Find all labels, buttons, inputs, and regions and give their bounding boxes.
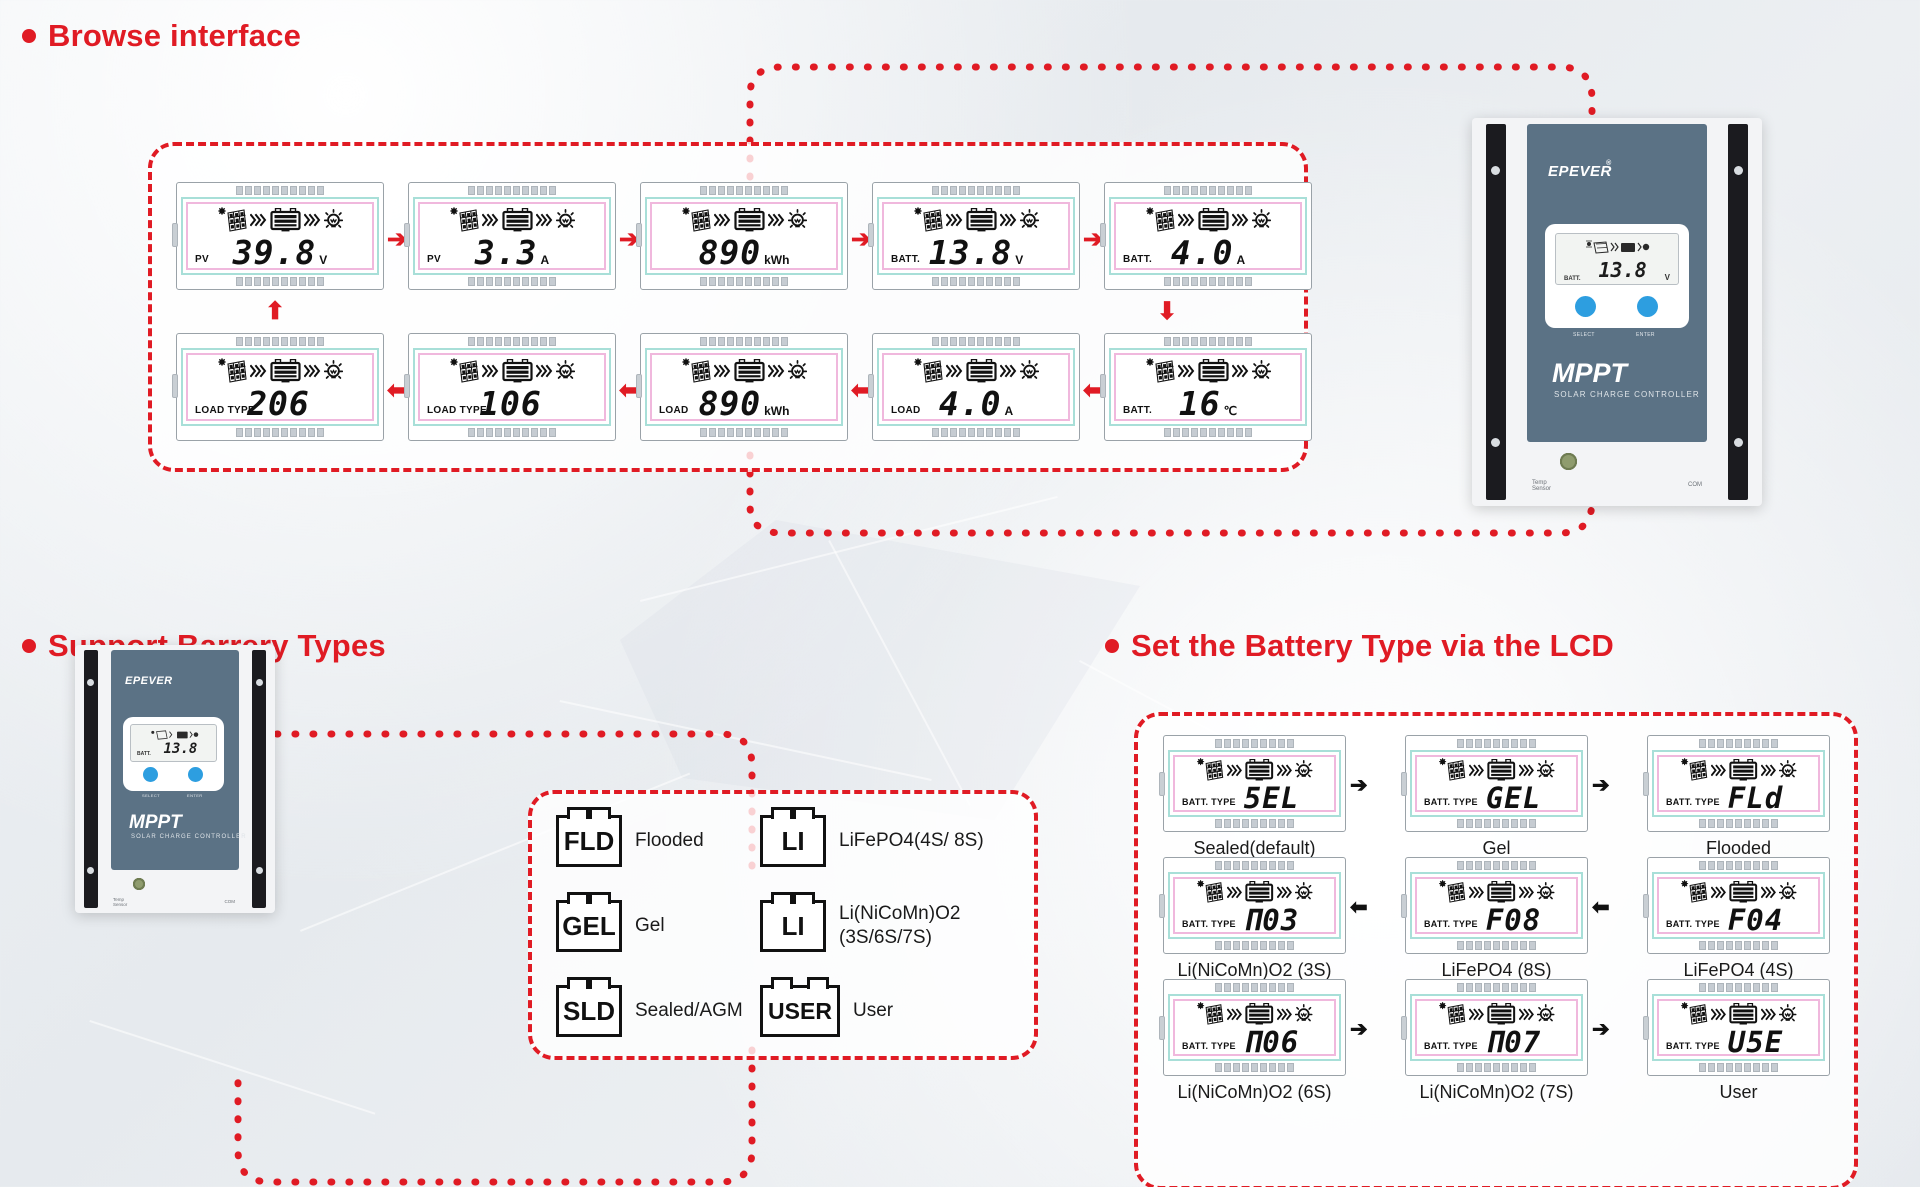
batt-current-screen[interactable]: BATT. 4.0 A <box>1104 182 1312 290</box>
lcd-inner-frame: BATT. TYPE Π03 <box>1168 872 1341 939</box>
flow-chevrons-icon <box>1469 1007 1485 1022</box>
battery-code: LI <box>781 911 804 942</box>
device-temp-sensor-label: Temp Sensor <box>1532 480 1551 492</box>
lcd-icon-row <box>1175 1001 1334 1028</box>
lcd-value: 4.0 <box>1171 236 1234 269</box>
battery-type-lifepo4: LI LiFePO4(4S/ 8S) <box>760 815 984 867</box>
load-current-screen[interactable]: LOAD 4.0 A <box>872 333 1080 441</box>
load-bulb-icon <box>324 209 343 231</box>
load-energy-screen[interactable]: LOAD 890 kWh <box>640 333 848 441</box>
bg-shade-1 <box>620 520 1140 820</box>
flow-chevrons-icon <box>1277 763 1293 778</box>
device-terminal <box>1560 453 1577 470</box>
lcd-inner-frame: LOAD TYPE 206 <box>181 348 379 426</box>
battery-icon <box>1487 759 1516 781</box>
batt-type-user-screen[interactable]: BATT. TYPE U5E <box>1647 979 1830 1076</box>
lcd-value-row: LOAD 890 kWh <box>652 387 836 419</box>
lcd-value-label: BATT. <box>1123 254 1152 265</box>
lcd-inner-frame-2: LOAD 4.0 A <box>882 353 1070 421</box>
lcd-inner-frame-2: BATT. TYPE F04 <box>1657 877 1820 934</box>
device-mount-hole <box>1734 166 1743 175</box>
lcd-batt-type-label: BATT. TYPE <box>1182 919 1236 929</box>
lcd-bottom-segments <box>1652 819 1825 828</box>
lcd-bottom-segments <box>181 277 379 286</box>
lcd-side-notch <box>404 374 410 398</box>
pv-energy-screen[interactable]: 890 kWh <box>640 182 848 290</box>
lcd-inner-frame-2: BATT. TYPE F08 <box>1415 877 1578 934</box>
lcd-batt-type-value: GEL <box>1486 784 1541 813</box>
flow-chevrons-icon <box>1711 763 1727 778</box>
battery-case-icon: FLD <box>556 815 622 867</box>
batt-type-sealed-screen[interactable]: BATT. TYPE 5EL <box>1163 735 1346 832</box>
battery-code: GEL <box>562 911 615 942</box>
lcd-side-notch <box>1401 1016 1407 1040</box>
device-enter-label: ENTER <box>1636 332 1655 338</box>
batt-type-gel-screen[interactable]: BATT. TYPE GEL <box>1405 735 1588 832</box>
device-subtitle: SOLAR CHARGE CONTROLLER <box>1554 390 1700 399</box>
lcd-top-segments <box>413 186 611 195</box>
lcd-value: 890 <box>699 387 762 420</box>
battery-case-icon: LI <box>760 900 826 952</box>
flow-chevrons-icon <box>946 363 963 379</box>
bg-streak-6 <box>89 1020 375 1115</box>
flow-chevrons-icon <box>536 212 553 228</box>
lcd-inner-frame: BATT. TYPE F08 <box>1410 872 1583 939</box>
lcd-value-row: BATT. TYPE F08 <box>1417 906 1576 933</box>
lcd-top-segments <box>1109 337 1307 346</box>
lcd-inner-frame-2: BATT. TYPE Π07 <box>1415 999 1578 1056</box>
device-enter-button[interactable] <box>188 767 203 782</box>
load-bulb-icon <box>324 360 343 382</box>
flow-chevrons-icon <box>1761 1007 1777 1022</box>
lcd-value-unit: V <box>1015 253 1023 267</box>
lcd-bottom-segments <box>413 277 611 286</box>
lcd-value-label: LOAD TYPE <box>427 405 487 416</box>
lcd-value: 16 <box>1179 387 1221 420</box>
battery-icon <box>502 359 533 383</box>
battery-icon <box>270 208 301 232</box>
lcd-icon-row <box>1659 757 1818 784</box>
flow-chevrons-icon <box>1000 212 1017 228</box>
device-brand-logo: EPEVER <box>125 675 173 687</box>
lcd-value: 206 <box>247 387 310 420</box>
lcd-side-notch <box>1643 1016 1649 1040</box>
lcd-value-row: LOAD TYPE 206 <box>188 387 372 419</box>
lcd-top-segments <box>645 186 843 195</box>
battery-icon <box>1198 208 1229 232</box>
lcd-top-segments <box>1168 861 1341 870</box>
lcd-value-label: LOAD TYPE <box>195 405 255 416</box>
lcd-icon-row <box>1175 757 1334 784</box>
lcd-value: 3.3 <box>475 236 538 269</box>
lcd-value: 39.8 <box>233 236 316 269</box>
flow-arrow: ➔ <box>1350 1019 1368 1040</box>
flow-arrow: ⬅ <box>1350 897 1368 918</box>
solar-panel-icon <box>449 358 479 384</box>
flow-chevrons-icon <box>536 363 553 379</box>
load-bulb-icon <box>1537 882 1554 902</box>
lcd-inner-frame: BATT. TYPE F04 <box>1652 872 1825 939</box>
lcd-top-segments <box>877 337 1075 346</box>
device-trademark: ® <box>1606 160 1612 167</box>
batt-type-nico7s-screen[interactable]: BATT. TYPE Π07 <box>1405 979 1588 1076</box>
lcd-icon-row <box>1659 879 1818 906</box>
lcd-inner-frame: PV 39.8 V <box>181 197 379 275</box>
lcd-value-unit: A <box>1236 253 1245 267</box>
battery-icon <box>734 359 765 383</box>
battery-icon <box>1487 881 1516 903</box>
battery-type-linicomno2: LI Li(NiCoMn)O2 (3S/6S/7S) <box>760 900 960 952</box>
battery-type-gel: GEL Gel <box>556 900 665 952</box>
lcd-icon-row <box>884 355 1068 387</box>
device-lcd-icons <box>1584 240 1650 255</box>
device-mount-hole <box>1734 438 1743 447</box>
solar-panel-icon <box>1145 207 1175 233</box>
solar-panel-icon <box>1438 758 1466 782</box>
load-bulb-icon <box>1252 360 1271 382</box>
lcd-value: 13.8 <box>929 236 1012 269</box>
lcd-value-unit: kWh <box>764 253 789 267</box>
lcd-inner-frame-2: BATT. TYPE Π06 <box>1173 999 1336 1056</box>
heading-label: Set the Battery Type via the LCD <box>1131 628 1614 664</box>
lcd-batt-type-value: F04 <box>1728 906 1783 935</box>
load-bulb-icon <box>1020 209 1039 231</box>
solar-panel-icon <box>1438 1002 1466 1026</box>
device-temp-sensor-label: Temp Sensor <box>113 897 127 907</box>
lcd-caption: LiFePO4 (8S) <box>1405 960 1588 981</box>
mppt-controller-device-small: EPEVER BATT. 13.8 SELECT ENTER MPPT SOLA… <box>75 645 275 913</box>
solar-panel-icon <box>217 207 247 233</box>
device-model-label: MPPT <box>1552 358 1627 389</box>
bg-streak-1 <box>640 496 1058 602</box>
lcd-side-notch <box>636 374 642 398</box>
lcd-value-row: LOAD TYPE 106 <box>420 387 604 419</box>
lcd-side-notch <box>172 223 178 247</box>
device-lcd-screen: BATT. 13.8 <box>130 724 217 762</box>
bg-streak-3 <box>828 540 971 806</box>
lcd-inner-frame-2: BATT. 13.8 V <box>882 202 1070 270</box>
battery-description: LiFePO4(4S/ 8S) <box>839 829 984 853</box>
solar-panel-icon <box>1680 1002 1708 1026</box>
load-bulb-icon <box>1020 360 1039 382</box>
battery-description: Li(NiCoMn)O2 (3S/6S/7S) <box>839 902 960 950</box>
battery-icon <box>1729 759 1758 781</box>
flow-chevrons-icon <box>1711 1007 1727 1022</box>
flow-arrow: ➔ <box>1592 1019 1610 1040</box>
battery-type-sealed: SLD Sealed/AGM <box>556 985 743 1037</box>
lcd-value-row: BATT. TYPE F04 <box>1659 906 1818 933</box>
lcd-inner-frame-2: LOAD 890 kWh <box>650 353 838 421</box>
solar-panel-icon <box>913 358 943 384</box>
lcd-caption: Li(NiCoMn)O2 (3S) <box>1163 960 1346 981</box>
lcd-value: 4.0 <box>939 387 1002 420</box>
lcd-inner-frame: PV 3.3 A <box>413 197 611 275</box>
battery-description: Sealed/AGM <box>635 999 743 1023</box>
lcd-icon-row <box>1116 355 1300 387</box>
lcd-batt-type-label: BATT. TYPE <box>1424 919 1478 929</box>
flow-chevrons-icon <box>1227 763 1243 778</box>
device-select-button[interactable] <box>143 767 158 782</box>
lcd-side-notch <box>1100 374 1106 398</box>
batt-type-flooded-screen[interactable]: BATT. TYPE FLd <box>1647 735 1830 832</box>
lcd-caption: Flooded <box>1647 838 1830 859</box>
solar-panel-icon <box>1145 358 1175 384</box>
lcd-batt-type-label: BATT. TYPE <box>1666 919 1720 929</box>
lcd-icon-row <box>1417 879 1576 906</box>
lcd-inner-frame: BATT. TYPE Π07 <box>1410 994 1583 1061</box>
flow-chevrons-icon <box>714 212 731 228</box>
battery-code: LI <box>781 826 804 857</box>
lcd-side-notch <box>1100 223 1106 247</box>
device-com-label: COM <box>1688 482 1702 488</box>
lcd-top-segments <box>1410 861 1583 870</box>
load-bulb-icon <box>1295 760 1312 780</box>
lcd-value-row: PV 3.3 A <box>420 236 604 268</box>
lcd-bottom-segments <box>1652 941 1825 950</box>
lcd-inner-frame: LOAD 890 kWh <box>645 348 843 426</box>
pv-voltage-screen[interactable]: PV 39.8 V <box>176 182 384 290</box>
device-select-button[interactable] <box>1575 296 1596 317</box>
device-brand-logo: EPEVER <box>1548 163 1612 180</box>
lcd-value-label: LOAD <box>659 405 689 416</box>
lcd-value-label: LOAD <box>891 405 921 416</box>
flow-chevrons-icon <box>1519 885 1535 900</box>
lcd-value-row: LOAD 4.0 A <box>884 387 1068 419</box>
lcd-caption: User <box>1647 1082 1830 1103</box>
battery-icon <box>270 359 301 383</box>
lcd-icon-row <box>188 204 372 236</box>
lcd-side-notch <box>636 223 642 247</box>
lcd-bottom-segments <box>1109 277 1307 286</box>
lcd-inner-frame: BATT. TYPE 5EL <box>1168 750 1341 817</box>
heading-label: Browse interface <box>48 18 301 54</box>
lcd-batt-type-value: U5E <box>1728 1028 1783 1057</box>
battery-icon <box>1487 1003 1516 1025</box>
lcd-value-label: BATT. <box>1123 405 1152 416</box>
lcd-value-label: PV <box>195 254 209 265</box>
solar-panel-icon <box>1196 758 1224 782</box>
heading-set-battery-type: Set the Battery Type via the LCD <box>1105 628 1614 664</box>
flow-chevrons-icon <box>1711 885 1727 900</box>
battery-code: SLD <box>563 996 615 1027</box>
flow-chevrons-icon <box>768 363 785 379</box>
battery-icon <box>1245 1003 1274 1025</box>
lcd-bottom-segments <box>1168 941 1341 950</box>
lcd-side-notch <box>1643 894 1649 918</box>
lcd-value-row: BATT. 16 ℃ <box>1116 387 1300 419</box>
lcd-inner-frame: BATT. 4.0 A <box>1109 197 1307 275</box>
battery-icon <box>1245 759 1274 781</box>
lcd-inner-frame-2: BATT. 4.0 A <box>1114 202 1302 270</box>
lcd-icon-row <box>188 355 372 387</box>
lcd-inner-frame-2: BATT. TYPE GEL <box>1415 755 1578 812</box>
lcd-value-label: BATT. <box>891 254 920 265</box>
lcd-top-segments <box>413 337 611 346</box>
lcd-icon-row <box>1417 1001 1576 1028</box>
mppt-controller-device: EPEVER ® BATT. 13.8 V SELECT EN <box>1472 118 1762 506</box>
lcd-inner-frame-2: BATT. TYPE U5E <box>1657 999 1820 1056</box>
lcd-side-notch <box>868 374 874 398</box>
lcd-value-unit: A <box>540 253 549 267</box>
lcd-inner-frame: BATT. 16 ℃ <box>1109 348 1307 426</box>
battery-case-icon: USER <box>760 985 840 1037</box>
flow-chevrons-icon <box>768 212 785 228</box>
lcd-top-segments <box>181 186 379 195</box>
device-mount-hole <box>256 867 263 874</box>
lcd-inner-frame: BATT. TYPE FLd <box>1652 750 1825 817</box>
flow-chevrons-icon <box>304 363 321 379</box>
flow-arrow: ⬅ <box>1592 897 1610 918</box>
lcd-inner-frame-2: BATT. TYPE Π03 <box>1173 877 1336 934</box>
load-bulb-icon <box>1537 760 1554 780</box>
lcd-side-notch <box>1401 772 1407 796</box>
battery-icon <box>966 359 997 383</box>
heading-browse-interface: Browse interface <box>22 18 301 54</box>
solar-panel-icon <box>913 207 943 233</box>
lcd-batt-type-label: BATT. TYPE <box>1666 797 1720 807</box>
lcd-icon-row <box>1659 1001 1818 1028</box>
battery-icon <box>1729 881 1758 903</box>
lcd-bottom-segments <box>1410 1063 1583 1072</box>
solar-panel-icon <box>1680 758 1708 782</box>
lcd-bottom-segments <box>1168 1063 1341 1072</box>
batt-voltage-screen[interactable]: BATT. 13.8 V <box>872 182 1080 290</box>
load-bulb-icon <box>788 209 807 231</box>
lcd-value-row: BATT. 4.0 A <box>1116 236 1300 268</box>
device-lcd-value: 13.8 <box>151 741 210 757</box>
load-type-206-screen[interactable]: LOAD TYPE 206 <box>176 333 384 441</box>
lcd-batt-type-value: Π07 <box>1486 1028 1541 1057</box>
lcd-top-segments <box>1652 983 1825 992</box>
bg-streak-2 <box>560 700 932 781</box>
lcd-bottom-segments <box>1410 819 1583 828</box>
flow-chevrons-icon <box>1277 885 1293 900</box>
lcd-inner-frame-2: BATT. TYPE FLd <box>1657 755 1820 812</box>
batt-type-nico3s-screen[interactable]: BATT. TYPE Π03 <box>1163 857 1346 954</box>
flow-chevrons-icon <box>946 212 963 228</box>
lcd-bottom-segments <box>1652 1063 1825 1072</box>
lcd-side-notch <box>1401 894 1407 918</box>
lcd-value-unit: kWh <box>764 404 789 418</box>
lcd-inner-frame-2: PV 39.8 V <box>186 202 374 270</box>
flow-arrow: ➔ <box>1592 775 1610 796</box>
flow-chevrons-icon <box>482 212 499 228</box>
lcd-batt-type-label: BATT. TYPE <box>1182 797 1236 807</box>
lcd-icon-row <box>652 204 836 236</box>
lcd-bottom-segments <box>413 428 611 437</box>
pv-current-screen[interactable]: PV 3.3 A <box>408 182 616 290</box>
load-type-106-screen[interactable]: LOAD TYPE 106 <box>408 333 616 441</box>
lcd-value-row: BATT. TYPE Π06 <box>1175 1028 1334 1055</box>
lcd-top-segments <box>1410 983 1583 992</box>
load-bulb-icon <box>1252 209 1271 231</box>
battery-description: Gel <box>635 914 665 938</box>
lcd-top-segments <box>181 337 379 346</box>
device-enter-button[interactable] <box>1637 296 1658 317</box>
lcd-value-unit: A <box>1004 404 1013 418</box>
lcd-icon-row <box>420 204 604 236</box>
lcd-bottom-segments <box>645 428 843 437</box>
lcd-inner-frame-2: PV 3.3 A <box>418 202 606 270</box>
device-lcd-value: 13.8 <box>1581 258 1665 282</box>
lcd-caption: Li(NiCoMn)O2 (7S) <box>1405 1082 1588 1103</box>
lcd-batt-type-label: BATT. TYPE <box>1666 1041 1720 1051</box>
batt-type-nico6s-screen[interactable]: BATT. TYPE Π06 <box>1163 979 1346 1076</box>
device-enter-label: ENTER <box>187 793 203 798</box>
flow-chevrons-icon <box>250 212 267 228</box>
lcd-inner-frame: BATT. TYPE U5E <box>1652 994 1825 1061</box>
lcd-bottom-segments <box>1410 941 1583 950</box>
lcd-icon-row <box>420 355 604 387</box>
device-lcd-unit: V <box>1665 273 1670 282</box>
device-mount-hole <box>1491 166 1500 175</box>
lcd-batt-type-value: F08 <box>1486 906 1541 935</box>
flow-chevrons-icon <box>1469 763 1485 778</box>
flow-arrow: ➔ <box>1350 775 1368 796</box>
lcd-caption: Sealed(default) <box>1163 838 1346 859</box>
lcd-bottom-segments <box>1168 819 1341 828</box>
flow-chevrons-icon <box>714 363 731 379</box>
lcd-side-notch <box>1643 772 1649 796</box>
batt-temperature-screen[interactable]: BATT. 16 ℃ <box>1104 333 1312 441</box>
battery-code: FLD <box>564 826 615 857</box>
device-lcd-icons <box>149 729 199 741</box>
lcd-batt-type-label: BATT. TYPE <box>1424 1041 1478 1051</box>
solar-panel-icon <box>1196 1002 1224 1026</box>
load-bulb-icon <box>1295 1004 1312 1024</box>
device-lcd-screen: BATT. 13.8 V <box>1555 233 1679 285</box>
lcd-side-notch <box>172 374 178 398</box>
lcd-inner-frame-2: 890 kWh <box>650 202 838 270</box>
lcd-side-notch <box>1159 1016 1165 1040</box>
battery-case-icon: GEL <box>556 900 622 952</box>
lcd-value: 890 <box>699 236 762 269</box>
load-bulb-icon <box>1537 1004 1554 1024</box>
lcd-bottom-segments <box>181 428 379 437</box>
device-model-label: MPPT <box>129 812 182 834</box>
batt-type-lifepo4-4s-screen[interactable]: BATT. TYPE F04 <box>1647 857 1830 954</box>
lcd-batt-type-value: Π06 <box>1244 1028 1299 1057</box>
lcd-top-segments <box>645 337 843 346</box>
flow-chevrons-icon <box>482 363 499 379</box>
lcd-icon-row <box>884 204 1068 236</box>
lcd-inner-frame: LOAD TYPE 106 <box>413 348 611 426</box>
lcd-batt-type-value: 5EL <box>1244 784 1299 813</box>
device-select-label: SELECT <box>1573 332 1595 338</box>
flow-arrow-down: ⬇ <box>1157 300 1177 324</box>
load-bulb-icon <box>1779 882 1796 902</box>
battery-case-icon: LI <box>760 815 826 867</box>
lcd-side-notch <box>1159 772 1165 796</box>
batt-type-lifepo4-8s-screen[interactable]: BATT. TYPE F08 <box>1405 857 1588 954</box>
lcd-caption: LiFePO4 (4S) <box>1647 960 1830 981</box>
lcd-top-segments <box>1410 739 1583 748</box>
device-subtitle: SOLAR CHARGE CONTROLLER <box>131 834 247 840</box>
lcd-caption: Gel <box>1405 838 1588 859</box>
flow-chevrons-icon <box>250 363 267 379</box>
lcd-side-notch <box>404 223 410 247</box>
battery-description: Flooded <box>635 829 704 853</box>
lcd-batt-type-value: FLd <box>1728 784 1783 813</box>
battery-case-icon: SLD <box>556 985 622 1037</box>
load-bulb-icon <box>1295 882 1312 902</box>
solar-panel-icon <box>681 207 711 233</box>
lcd-side-notch <box>1159 894 1165 918</box>
battery-icon <box>1729 1003 1758 1025</box>
battery-icon <box>1198 359 1229 383</box>
device-mount-hole <box>256 679 263 686</box>
lcd-inner-frame: LOAD 4.0 A <box>877 348 1075 426</box>
